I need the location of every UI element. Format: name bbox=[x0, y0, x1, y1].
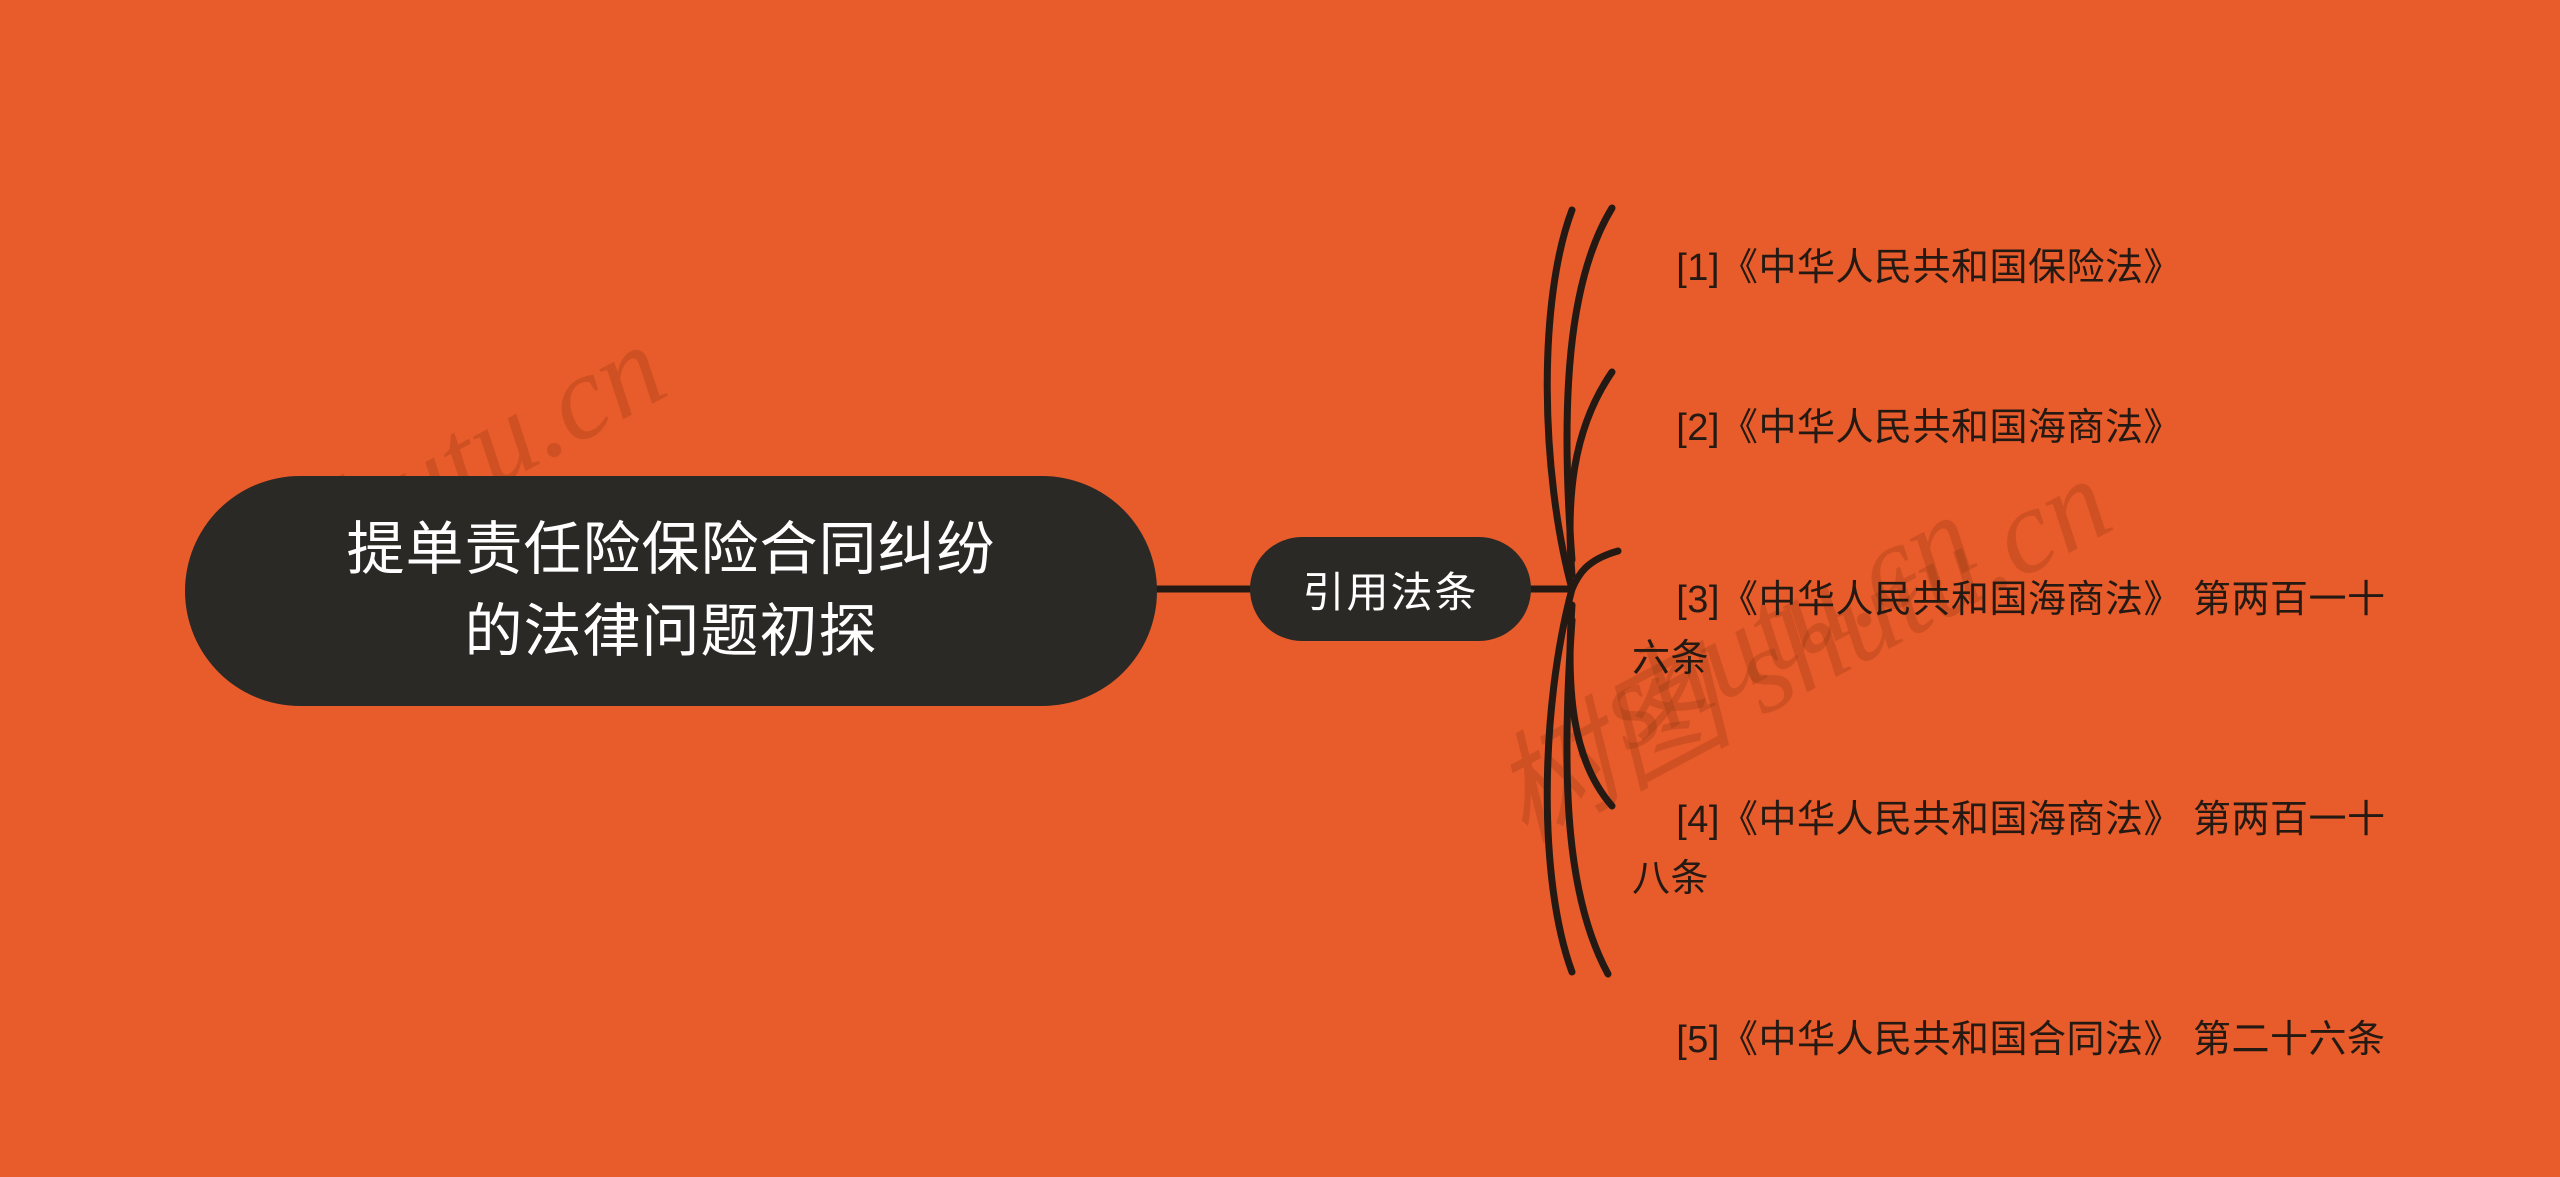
leaf-item-2-label: [2]《中华人民共和国海商法》 bbox=[1676, 407, 2182, 449]
leaf-item-4-label: [4]《中华人民共和国海商法》 第两百一十八条 bbox=[1632, 799, 2386, 900]
branch-curve-5 bbox=[1567, 620, 1608, 974]
branch-node-label: 引用法条 bbox=[1302, 559, 1478, 620]
root-node-label: 提单责任险保险合同纠纷的法律问题初探 bbox=[321, 509, 1021, 674]
leaf-item-5[interactable]: [5]《中华人民共和国合同法》 第二十六条 bbox=[1632, 952, 2462, 1129]
branch-node-citations[interactable]: 引用法条 bbox=[1250, 537, 1531, 641]
branch-curve-4 bbox=[1570, 605, 1612, 806]
branch-curve-1 bbox=[1567, 208, 1612, 560]
leaf-item-3[interactable]: [3]《中华人民共和国海商法》 第两百一十六条 bbox=[1632, 512, 2422, 748]
mindmap-canvas: shutu.cn 树图 shutu.cn shutu.cn 提单责任险保险合同纠… bbox=[0, 0, 2560, 1177]
branch-curve-2 bbox=[1570, 372, 1612, 575]
leaf-item-2[interactable]: [2]《中华人民共和国海商法》 bbox=[1632, 340, 2422, 517]
leaf-item-1-label: [1]《中华人民共和国保险法》 bbox=[1676, 247, 2182, 289]
leaf-item-4[interactable]: [4]《中华人民共和国海商法》 第两百一十八条 bbox=[1632, 732, 2422, 968]
branch-curve-3 bbox=[1572, 551, 1618, 589]
trunk-lower bbox=[1547, 589, 1572, 972]
root-node[interactable]: 提单责任险保险合同纠纷的法律问题初探 bbox=[185, 476, 1157, 706]
leaf-item-3-label: [3]《中华人民共和国海商法》 第两百一十六条 bbox=[1632, 579, 2386, 680]
leaf-item-5-label: [5]《中华人民共和国合同法》 第二十六条 bbox=[1676, 1019, 2385, 1061]
leaf-item-1[interactable]: [1]《中华人民共和国保险法》 bbox=[1632, 180, 2422, 357]
trunk-upper bbox=[1547, 210, 1572, 589]
